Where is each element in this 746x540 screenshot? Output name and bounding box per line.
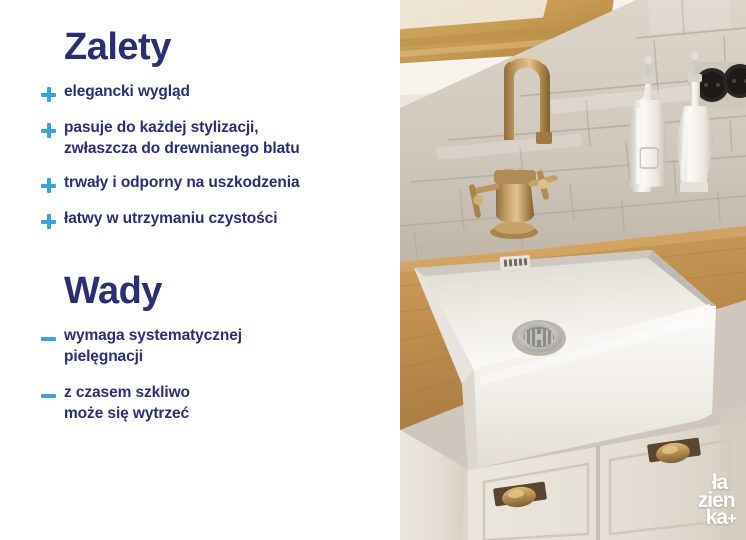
power-sockets	[695, 62, 746, 108]
list-item: pasuje do każdej stylizacji, zwłaszcza d…	[0, 118, 400, 160]
kitchen-sink-photo: ła zien ka+	[400, 0, 746, 540]
minus-icon	[38, 327, 64, 349]
list-item: z czasem szkliwo może się wytrzeć	[0, 383, 400, 425]
cons-section: Wady wymaga systematycznej pielęgnacji z…	[0, 272, 400, 440]
text-panel: Zalety elegancki wygląd pasuje do każdej…	[0, 0, 400, 540]
plus-icon	[38, 83, 64, 105]
list-item: łatwy w utrzymaniu czystości	[0, 209, 400, 232]
list-item-label: z czasem szkliwo może się wytrzeć	[64, 383, 190, 425]
photo-illustration	[400, 0, 746, 540]
sink-overflow	[500, 255, 531, 270]
plus-icon	[38, 210, 64, 232]
list-item-label: łatwy w utrzymaniu czystości	[64, 209, 277, 230]
list-item: wymaga systematycznej pielęgnacji	[0, 326, 400, 368]
list-item-label: elegancki wygląd	[64, 82, 190, 103]
list-item: trwały i odporny na uszkodzenia	[0, 173, 400, 196]
sink-drain	[512, 320, 566, 356]
list-item-label: wymaga systematycznej pielęgnacji	[64, 326, 242, 368]
pros-section: Zalety elegancki wygląd pasuje do każdej…	[0, 28, 400, 245]
pros-list: elegancki wygląd pasuje do każdej styliz…	[0, 82, 400, 232]
plus-icon	[38, 119, 64, 141]
plus-icon	[38, 174, 64, 196]
pros-title: Zalety	[0, 28, 400, 68]
minus-icon	[38, 384, 64, 406]
list-item: elegancki wygląd	[0, 82, 400, 105]
infographic-root: Zalety elegancki wygląd pasuje do każdej…	[0, 0, 746, 540]
cons-list: wymaga systematycznej pielęgnacji z czas…	[0, 326, 400, 425]
brand-logo: ła zien ka+	[698, 474, 736, 526]
list-item-label: pasuje do każdej stylizacji, zwłaszcza d…	[64, 118, 300, 160]
list-item-label: trwały i odporny na uszkodzenia	[64, 173, 299, 194]
cons-title: Wady	[0, 272, 400, 312]
logo-plus-icon: +	[727, 509, 736, 528]
